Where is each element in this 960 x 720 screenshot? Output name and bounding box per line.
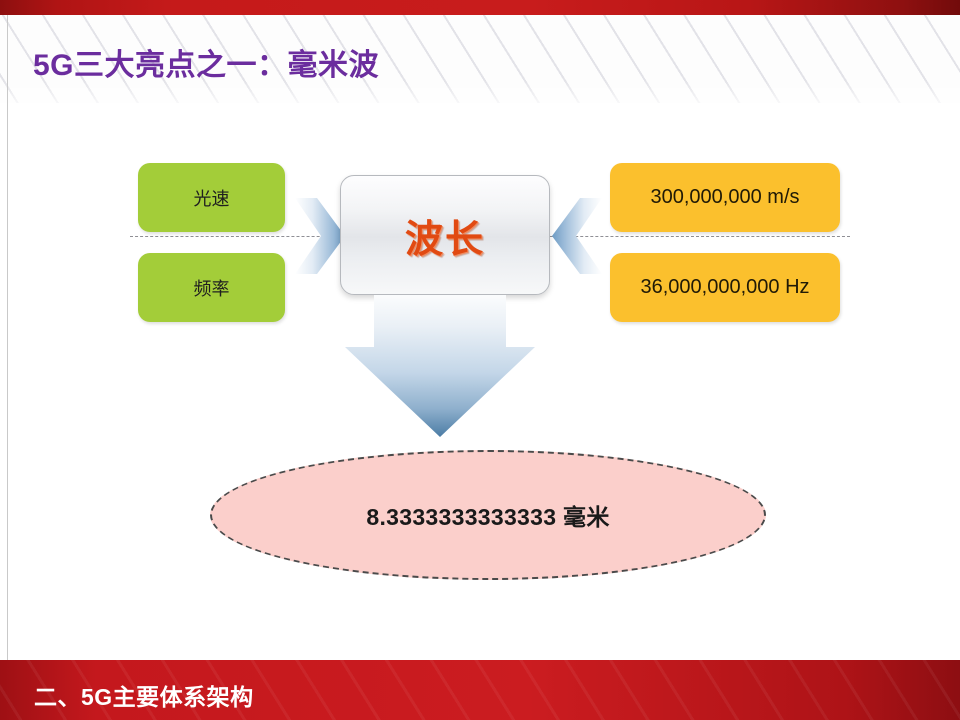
output-box-wavelength-label: 波长 xyxy=(405,208,485,263)
input-box-light-speed-label: 光速 xyxy=(194,185,230,211)
input-box-light-speed[interactable]: 光速 xyxy=(138,163,285,232)
input-box-frequency-label: 频率 xyxy=(194,275,230,301)
result-ellipse-label: 8.3333333333333 毫米 xyxy=(366,498,609,532)
value-box-frequency-label: 36,000,000,000 Hz xyxy=(640,276,809,299)
slide-canvas: 5G三大亮点之一：毫米波 光速 频率 波长 xyxy=(0,0,960,720)
input-box-frequency[interactable]: 频率 xyxy=(138,253,285,322)
value-box-frequency[interactable]: 36,000,000,000 Hz xyxy=(610,253,840,322)
page-title: 5G三大亮点之一：毫米波 xyxy=(33,40,379,84)
value-box-light-speed[interactable]: 300,000,000 m/s xyxy=(610,163,840,232)
top-red-band xyxy=(0,0,960,15)
chevron-left-icon xyxy=(552,188,602,284)
footer-section-label: 二、5G主要体系架构 xyxy=(34,678,254,712)
chevron-right-icon xyxy=(295,188,345,284)
arrow-down-icon xyxy=(345,295,535,437)
value-box-light-speed-label: 300,000,000 m/s xyxy=(651,186,800,209)
header-fade-overlay xyxy=(0,80,960,120)
result-ellipse[interactable]: 8.3333333333333 毫米 xyxy=(210,450,766,580)
output-box-wavelength[interactable]: 波长 xyxy=(340,175,550,295)
